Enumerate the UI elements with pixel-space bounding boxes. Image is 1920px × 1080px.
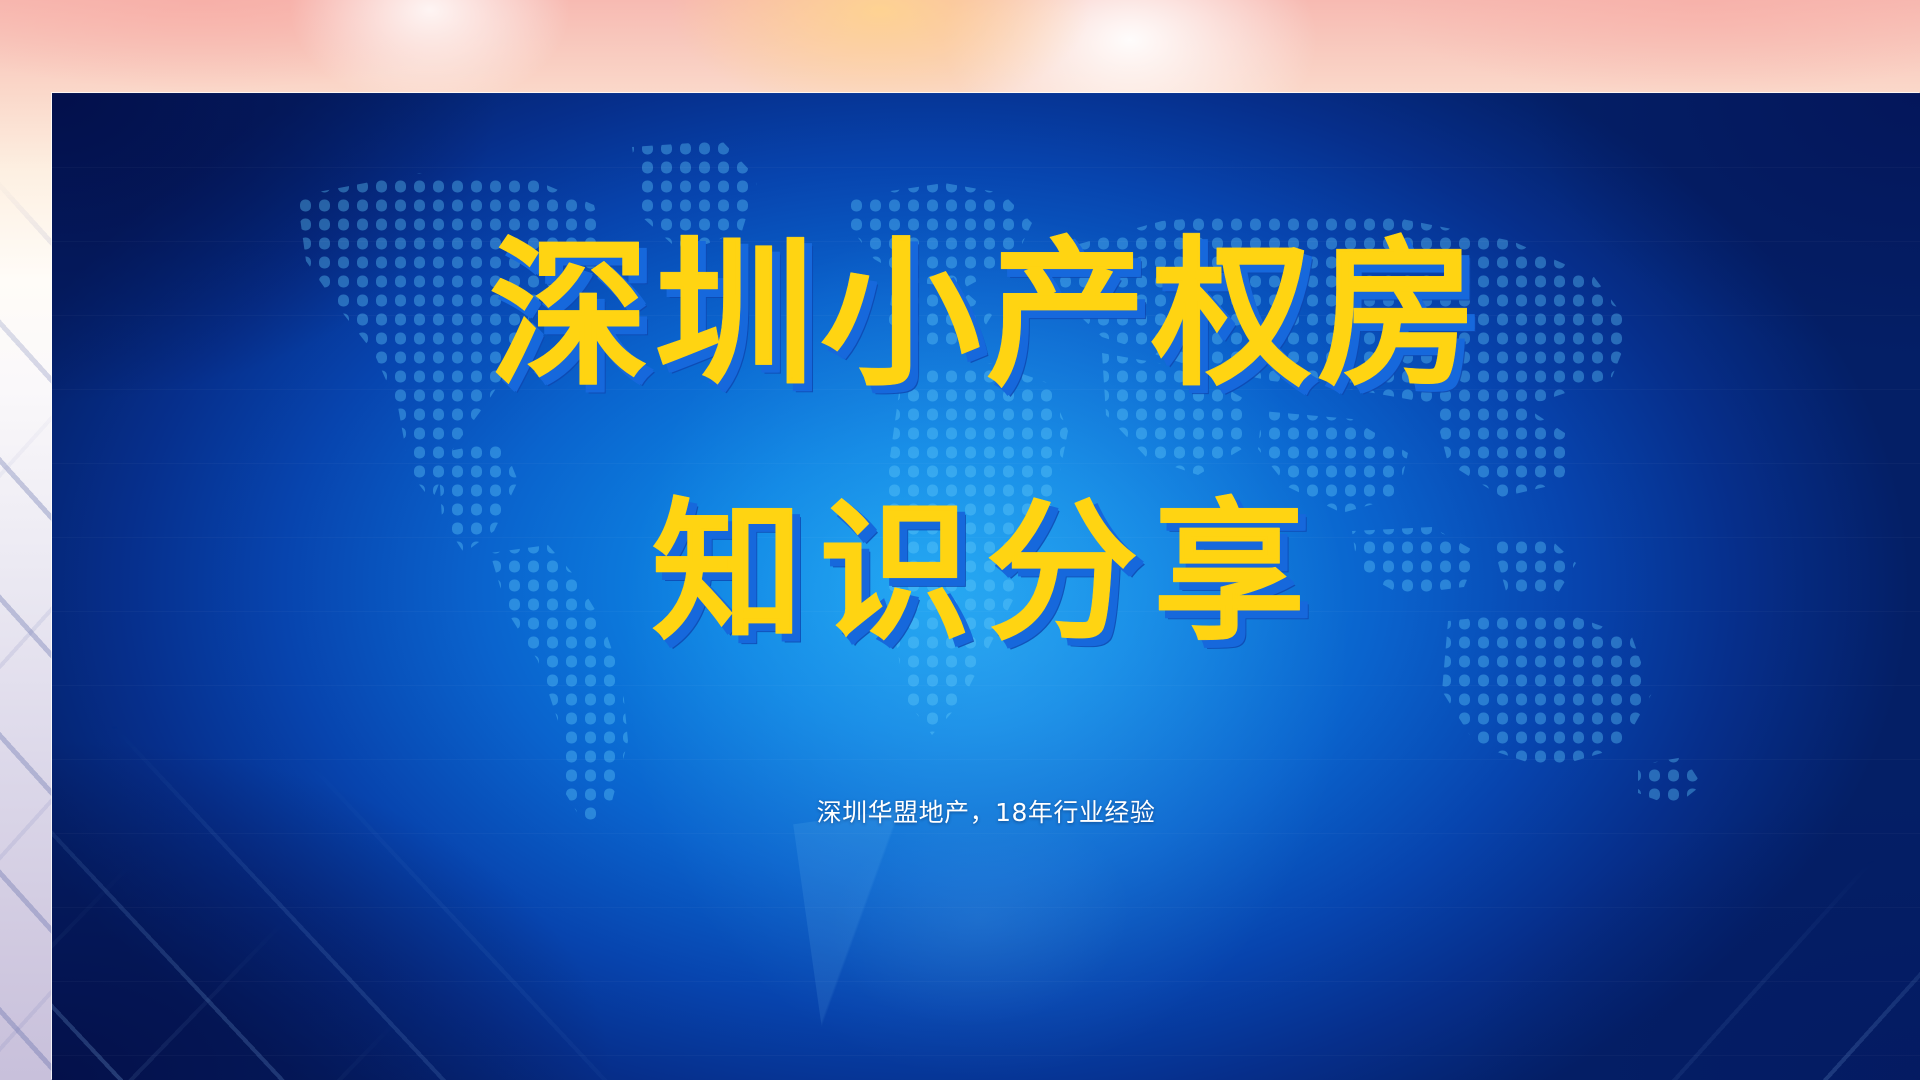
slide-title-line-2: 知识分享 [52, 493, 1920, 653]
slide-text-area: 深圳小产权房 知识分享 深圳华盟地产，18年行业经验 [52, 93, 1920, 1080]
slide-subtitle: 深圳华盟地产，18年行业经验 [52, 793, 1920, 829]
blue-content-panel: 深圳小产权房 知识分享 深圳华盟地产，18年行业经验 [52, 93, 1920, 1080]
slide-title-line-1: 深圳小产权房 [52, 231, 1920, 399]
presentation-slide: 深圳小产权房 知识分享 深圳华盟地产，18年行业经验 [0, 0, 1920, 1080]
